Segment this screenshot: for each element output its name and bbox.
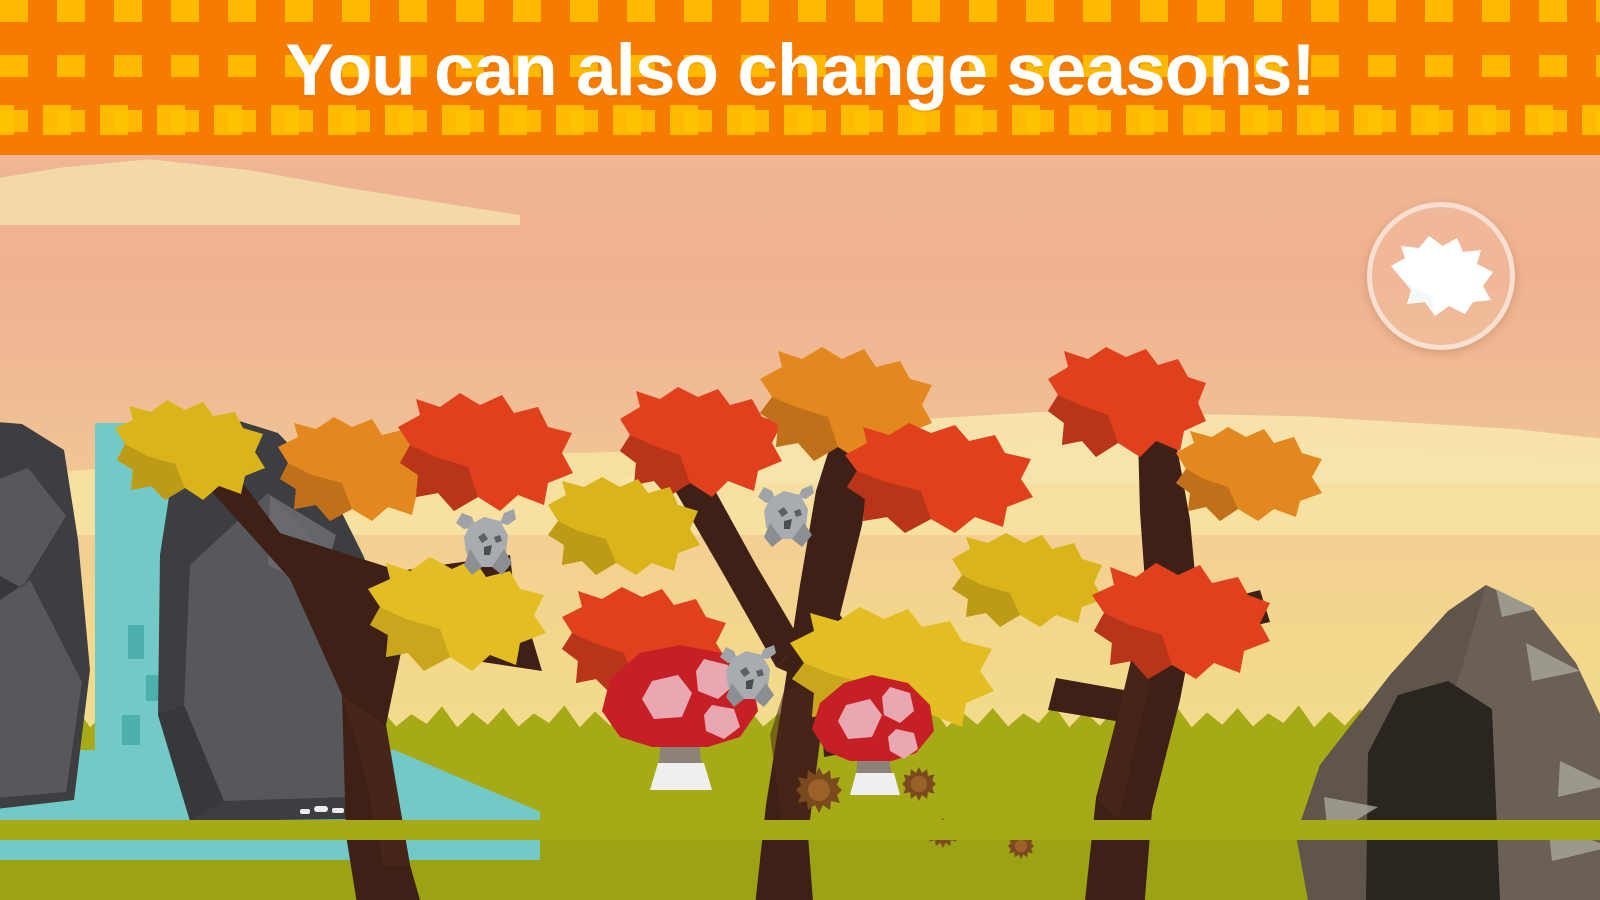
koala-lower[interactable] bbox=[720, 645, 778, 707]
game-scene bbox=[0, 155, 1600, 900]
cloud-icon bbox=[1385, 232, 1497, 318]
foreground-grass-band bbox=[0, 820, 1600, 840]
mushroom-small[interactable] bbox=[812, 675, 934, 795]
koala-left[interactable] bbox=[456, 509, 518, 575]
koala-center[interactable] bbox=[758, 485, 816, 547]
cave-rock-right bbox=[1280, 585, 1600, 900]
banner-title: You can also change seasons! bbox=[0, 34, 1600, 107]
game-screenshot: You can also change seasons! bbox=[0, 0, 1600, 900]
weather-toggle-button[interactable] bbox=[1367, 202, 1515, 350]
promo-banner: You can also change seasons! bbox=[0, 0, 1600, 155]
